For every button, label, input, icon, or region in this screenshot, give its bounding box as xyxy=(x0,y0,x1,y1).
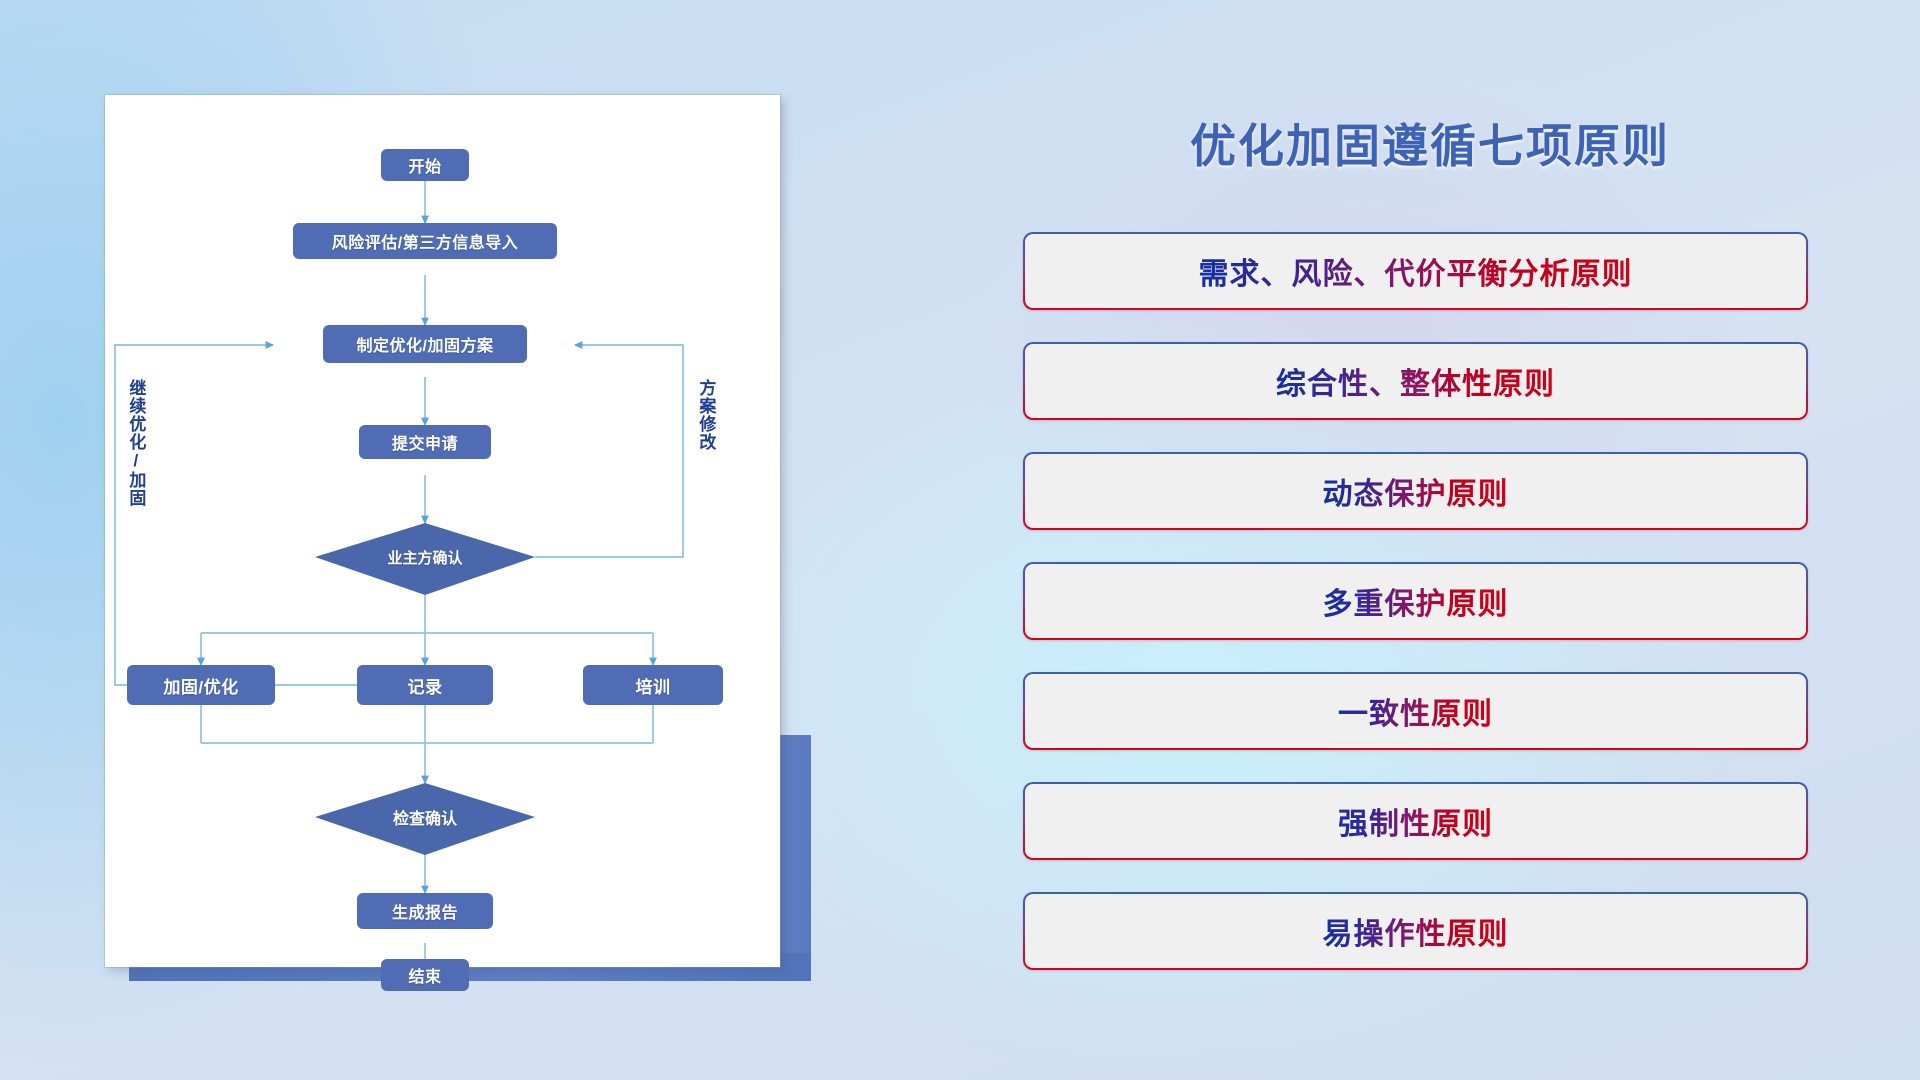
node-generate-report[interactable]: 生成报告 xyxy=(357,893,493,929)
flowchart-paper: 开始 风险评估/第三方信息导入 制定优化/加固方案 提交申请 业主方确认 加固/… xyxy=(105,95,780,967)
principle-label: 需求、风险、代价平衡分析原则 xyxy=(1199,249,1633,293)
node-end[interactable]: 结束 xyxy=(381,959,469,991)
principle-label: 多重保护原则 xyxy=(1323,579,1509,623)
node-label: 记录 xyxy=(408,673,443,698)
principles-list: 需求、风险、代价平衡分析原则 综合性、整体性原则 动态保护原则 多重保护原则 一… xyxy=(1023,232,1808,1002)
edge-label-plan-revision: 方案修改 xyxy=(697,379,714,509)
flowchart: 开始 风险评估/第三方信息导入 制定优化/加固方案 提交申请 业主方确认 加固/… xyxy=(105,95,780,967)
node-label: 生成报告 xyxy=(392,899,458,923)
node-label: 结束 xyxy=(408,963,441,987)
principle-card-inner: 强制性原则 xyxy=(1025,784,1806,858)
principle-card-inner: 需求、风险、代价平衡分析原则 xyxy=(1025,234,1806,308)
node-label: 提交申请 xyxy=(392,430,458,454)
node-label: 风险评估/第三方信息导入 xyxy=(332,229,518,253)
principle-card-inner: 一致性原则 xyxy=(1025,674,1806,748)
node-record[interactable]: 记录 xyxy=(357,665,493,705)
principle-card-inner: 多重保护原则 xyxy=(1025,564,1806,638)
edge-label-continue-optimize: 继续优化/加固 xyxy=(127,379,144,569)
slide-root: 开始 风险评估/第三方信息导入 制定优化/加固方案 提交申请 业主方确认 加固/… xyxy=(0,0,1920,1080)
principle-card-inner: 动态保护原则 xyxy=(1025,454,1806,528)
principle-card[interactable]: 一致性原则 xyxy=(1023,672,1808,750)
diamond-check-confirm xyxy=(315,783,535,855)
principle-label: 强制性原则 xyxy=(1338,799,1493,843)
principle-label: 易操作性原则 xyxy=(1323,909,1509,953)
node-label: 培训 xyxy=(636,673,671,698)
page-title: 优化加固遵循七项原则 xyxy=(1030,110,1830,176)
principle-card[interactable]: 多重保护原则 xyxy=(1023,562,1808,640)
node-label: 开始 xyxy=(408,153,441,177)
node-reinforce-optimize[interactable]: 加固/优化 xyxy=(127,665,275,705)
principle-card[interactable]: 易操作性原则 xyxy=(1023,892,1808,970)
principle-card[interactable]: 动态保护原则 xyxy=(1023,452,1808,530)
principle-label: 一致性原则 xyxy=(1338,689,1493,733)
principle-card[interactable]: 强制性原则 xyxy=(1023,782,1808,860)
node-start[interactable]: 开始 xyxy=(381,149,469,181)
node-training[interactable]: 培训 xyxy=(583,665,723,705)
principle-label: 动态保护原则 xyxy=(1323,469,1509,513)
node-make-plan[interactable]: 制定优化/加固方案 xyxy=(323,325,527,363)
principle-card-inner: 综合性、整体性原则 xyxy=(1025,344,1806,418)
node-risk-assessment[interactable]: 风险评估/第三方信息导入 xyxy=(293,223,557,259)
node-label: 加固/优化 xyxy=(163,673,238,698)
principle-card[interactable]: 综合性、整体性原则 xyxy=(1023,342,1808,420)
principle-label: 综合性、整体性原则 xyxy=(1276,359,1555,403)
principle-card-inner: 易操作性原则 xyxy=(1025,894,1806,968)
node-submit-application[interactable]: 提交申请 xyxy=(359,425,491,459)
diamond-owner-confirm xyxy=(315,523,535,595)
principle-card[interactable]: 需求、风险、代价平衡分析原则 xyxy=(1023,232,1808,310)
node-label: 制定优化/加固方案 xyxy=(357,332,494,356)
